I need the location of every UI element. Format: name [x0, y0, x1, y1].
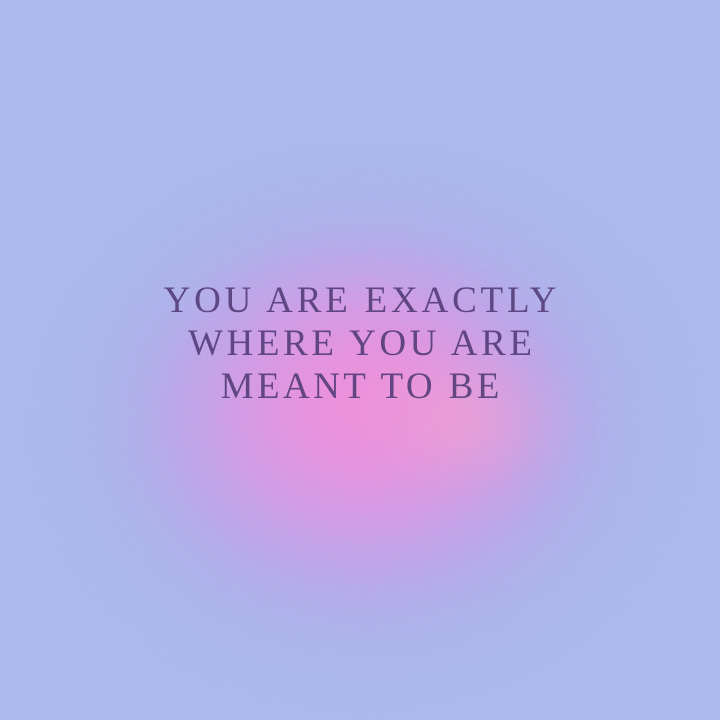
quote-line-1: YOU ARE EXACTLY	[160, 279, 560, 322]
quote-line-2: WHERE YOU ARE	[184, 322, 535, 365]
quote-text-block: YOU ARE EXACTLY WHERE YOU ARE MEANT TO B…	[0, 0, 720, 720]
quote-graphic-canvas: YOU ARE EXACTLY WHERE YOU ARE MEANT TO B…	[0, 0, 720, 720]
quote-line-3: MEANT TO BE	[217, 365, 502, 408]
